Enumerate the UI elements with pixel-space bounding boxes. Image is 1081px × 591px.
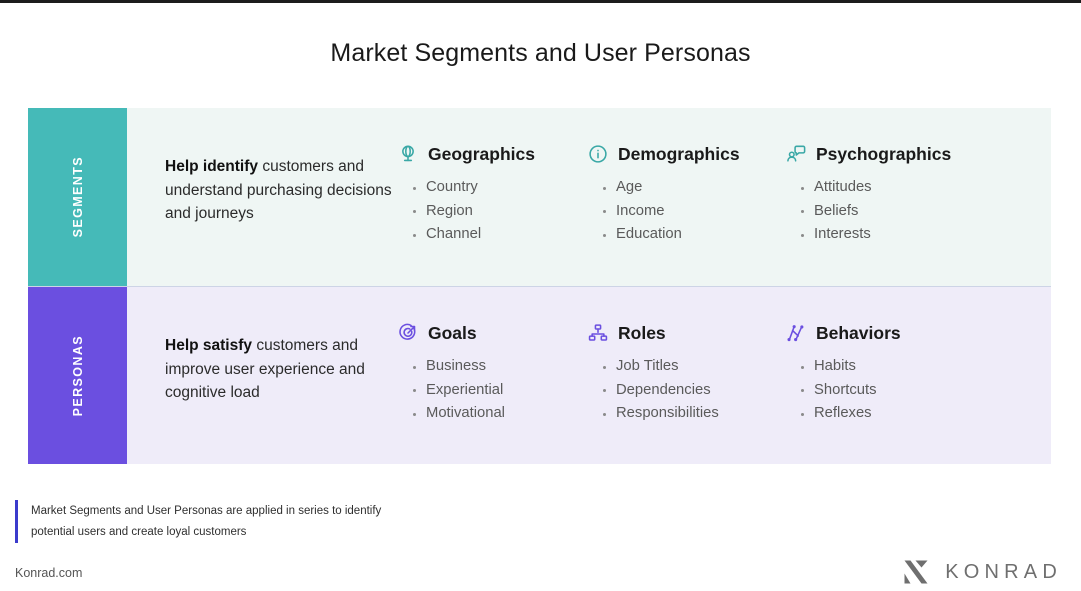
footnote-line-1: Market Segments and User Personas are ap… (31, 501, 381, 522)
person-speech-bubble-icon (785, 143, 807, 165)
list-item: Job Titles (616, 355, 785, 379)
list-item: Motivational (426, 402, 587, 426)
footnote-accent-bar (15, 500, 18, 543)
category-psychographics-list: Attitudes Beliefs Interests (785, 176, 983, 247)
category-goals: Goals Business Experiential Motivational (397, 287, 587, 464)
category-psychographics-header: Psychographics (785, 143, 983, 165)
matrix-row-personas: PERSONAS Help satisfy customers and impr… (28, 286, 1051, 464)
row-body-segments: Help identify customers and understand p… (127, 108, 1051, 286)
category-psychographics: Psychographics Attitudes Beliefs Interes… (785, 108, 983, 286)
info-circle-icon (587, 143, 609, 165)
footnote: Market Segments and User Personas are ap… (15, 500, 381, 543)
list-item: Attitudes (814, 176, 983, 200)
category-goals-title: Goals (428, 323, 477, 344)
node-path-icon (785, 322, 807, 344)
category-roles: Roles Job Titles Dependencies Responsibi… (587, 287, 785, 464)
row-label-segments: SEGMENTS (28, 108, 127, 286)
row-label-segments-text: SEGMENTS (71, 156, 85, 237)
category-demographics-title: Demographics (618, 144, 740, 165)
target-arrow-icon (397, 322, 419, 344)
category-roles-header: Roles (587, 322, 785, 344)
list-item: Country (426, 176, 587, 200)
category-geographics: Geographics Country Region Channel (397, 108, 587, 286)
category-goals-header: Goals (397, 322, 587, 344)
category-psychographics-title: Psychographics (816, 144, 951, 165)
list-item: Beliefs (814, 200, 983, 224)
list-item: Channel (426, 223, 587, 247)
konrad-k-mark-icon (901, 557, 931, 587)
list-item: Interests (814, 223, 983, 247)
footnote-line-2: potential users and create loyal custome… (31, 522, 381, 543)
segments-lede: Help identify customers and understand p… (165, 108, 397, 286)
footnote-text: Market Segments and User Personas are ap… (31, 500, 381, 543)
list-item: Income (616, 200, 785, 224)
category-geographics-list: Country Region Channel (397, 176, 587, 247)
list-item: Habits (814, 355, 983, 379)
list-item: Business (426, 355, 587, 379)
slide-canvas: Market Segments and User Personas SEGMEN… (0, 0, 1081, 591)
org-chart-icon (587, 322, 609, 344)
category-geographics-title: Geographics (428, 144, 535, 165)
segments-lede-bold: Help identify (165, 158, 258, 175)
row-label-personas: PERSONAS (28, 287, 127, 464)
personas-lede: Help satisfy customers and improve user … (165, 287, 397, 464)
list-item: Shortcuts (814, 379, 983, 403)
list-item: Dependencies (616, 379, 785, 403)
list-item: Region (426, 200, 587, 224)
globe-icon (397, 143, 419, 165)
category-behaviors-list: Habits Shortcuts Reflexes (785, 355, 983, 426)
category-goals-list: Business Experiential Motivational (397, 355, 587, 426)
category-geographics-header: Geographics (397, 143, 587, 165)
list-item: Reflexes (814, 402, 983, 426)
list-item: Responsibilities (616, 402, 785, 426)
personas-lede-bold: Help satisfy (165, 337, 252, 354)
page-title: Market Segments and User Personas (0, 39, 1081, 68)
row-label-personas-text: PERSONAS (71, 335, 85, 416)
matrix-row-segments: SEGMENTS Help identify customers and und… (28, 108, 1051, 286)
list-item: Education (616, 223, 785, 247)
category-behaviors-title: Behaviors (816, 323, 901, 344)
segments-personas-matrix: SEGMENTS Help identify customers and und… (28, 108, 1051, 464)
list-item: Experiential (426, 379, 587, 403)
category-roles-title: Roles (618, 323, 666, 344)
category-behaviors: Behaviors Habits Shortcuts Reflexes (785, 287, 983, 464)
list-item: Age (616, 176, 785, 200)
category-roles-list: Job Titles Dependencies Responsibilities (587, 355, 785, 426)
brand-name: KONRAD (945, 561, 1062, 584)
category-behaviors-header: Behaviors (785, 322, 983, 344)
brand-lockup: KONRAD (901, 557, 1062, 587)
category-demographics: Demographics Age Income Education (587, 108, 785, 286)
category-demographics-list: Age Income Education (587, 176, 785, 247)
category-demographics-header: Demographics (587, 143, 785, 165)
row-body-personas: Help satisfy customers and improve user … (127, 287, 1051, 464)
site-url[interactable]: Konrad.com (15, 566, 82, 580)
